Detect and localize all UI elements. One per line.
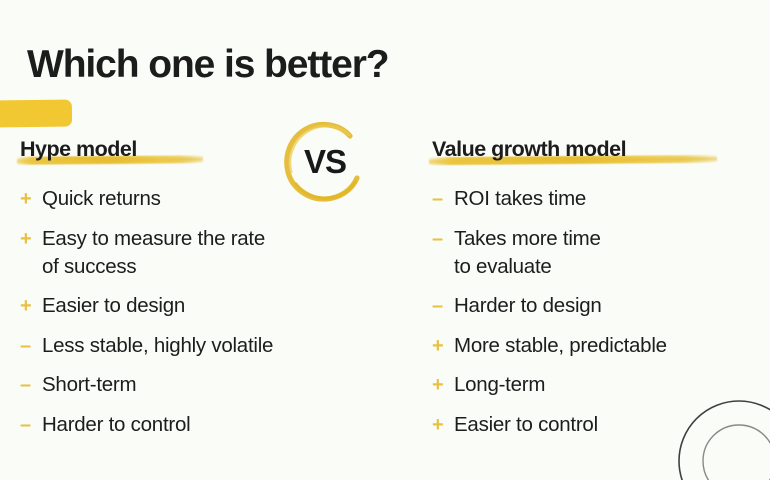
plus-icon: +	[20, 292, 42, 320]
minus-icon: –	[432, 185, 454, 213]
bullet-text: Harder to control	[42, 411, 400, 439]
page-title: Which one is better?	[27, 28, 389, 102]
bullet-item: –ROI takes time	[432, 185, 767, 213]
title-highlight-accent	[0, 100, 72, 128]
plus-icon: +	[432, 332, 454, 360]
right-column-heading-wrap: Value growth model	[432, 136, 767, 176]
bullet-text: Easier to design	[42, 292, 400, 320]
minus-icon: –	[432, 292, 454, 320]
plus-icon: +	[20, 185, 42, 213]
bullet-text: Short-term	[42, 371, 400, 399]
bullet-text: Harder to design	[454, 292, 767, 320]
plus-icon: +	[20, 225, 42, 253]
title-block: Which one is better?	[0, 28, 770, 106]
bullet-item: +More stable, predictable	[432, 332, 767, 360]
minus-icon: –	[432, 225, 454, 253]
minus-icon: –	[20, 411, 42, 439]
plus-icon: +	[432, 371, 454, 399]
vs-label: VS	[276, 116, 372, 208]
bullet-text: More stable, predictable	[454, 332, 767, 360]
bullet-text: Less stable, highly volatile	[42, 332, 400, 360]
minus-icon: –	[20, 332, 42, 360]
bullet-item: –Takes more time to evaluate	[432, 225, 767, 281]
bullet-item: –Short-term	[20, 371, 400, 399]
vs-badge: VS	[276, 116, 372, 208]
bullet-text: Takes more time to evaluate	[454, 225, 767, 281]
bullet-item: –Harder to design	[432, 292, 767, 320]
bullet-item: –Harder to control	[20, 411, 400, 439]
bullet-item: +Easier to design	[20, 292, 400, 320]
corner-circle-decoration	[664, 386, 770, 480]
plus-icon: +	[432, 411, 454, 439]
left-column-heading: Hype model	[20, 136, 137, 163]
right-column-heading: Value growth model	[432, 136, 626, 163]
bullet-item: –Less stable, highly volatile	[20, 332, 400, 360]
slide-canvas: Which one is better? Hype model +Quick r…	[0, 0, 770, 480]
left-bullet-list: +Quick returns+Easy to measure the rate …	[20, 185, 400, 439]
bullet-text: Easy to measure the rate of success	[42, 225, 400, 281]
bullet-item: +Easy to measure the rate of success	[20, 225, 400, 281]
minus-icon: –	[20, 371, 42, 399]
bullet-text: ROI takes time	[454, 185, 767, 213]
